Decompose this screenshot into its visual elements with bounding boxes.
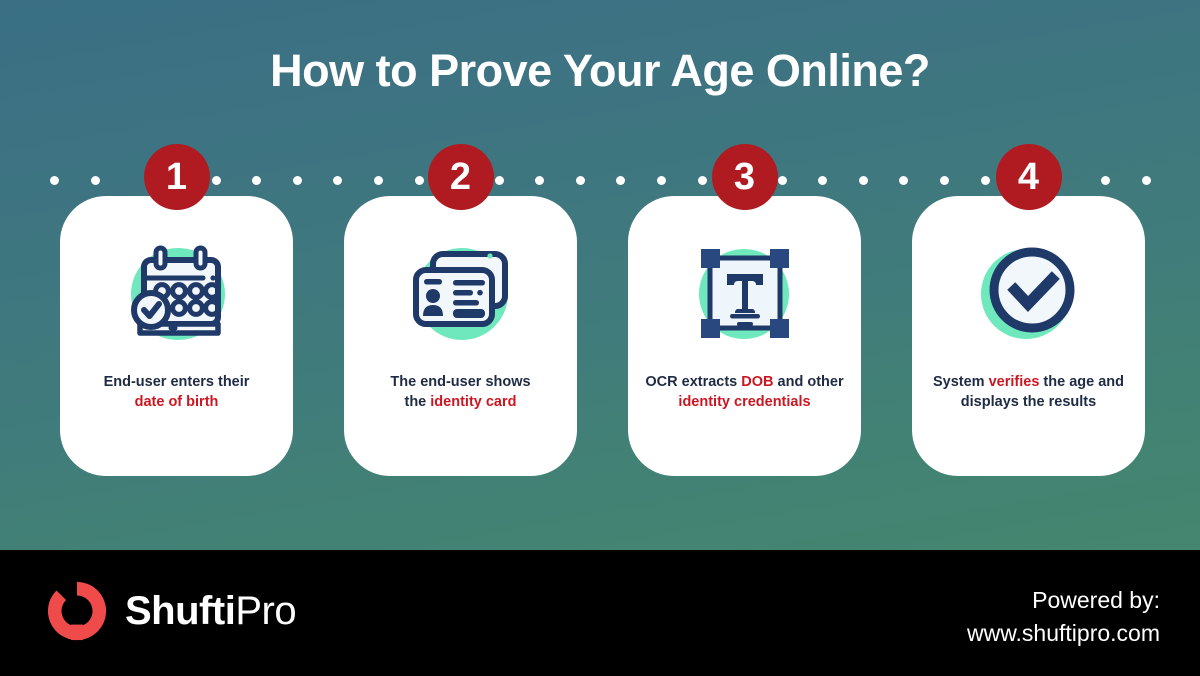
connector-dot bbox=[576, 176, 585, 185]
connector-dot bbox=[899, 176, 908, 185]
step-number-badge-4: 4 bbox=[996, 144, 1062, 210]
caption-highlight: DOB bbox=[741, 374, 773, 390]
step-caption-4: System verifies the age and displays the… bbox=[921, 372, 1136, 412]
caption-highlight: identity card bbox=[430, 394, 516, 410]
id-card-icon bbox=[401, 238, 521, 350]
caption-text: System bbox=[933, 374, 989, 390]
infographic-root: How to Prove Your Age Online? 1 bbox=[0, 0, 1200, 676]
connector-dot bbox=[1142, 176, 1151, 185]
footer-bar: ShuftiPro Powered by: www.shuftipro.com bbox=[0, 550, 1200, 676]
page-title: How to Prove Your Age Online? bbox=[0, 45, 1200, 97]
step-number-badge-2: 2 bbox=[428, 144, 494, 210]
connector-dot bbox=[293, 176, 302, 185]
steps-row: 1 bbox=[60, 196, 1145, 476]
connector-dot bbox=[91, 176, 100, 185]
connector-dot bbox=[657, 176, 666, 185]
powered-by-label: Powered by: bbox=[967, 584, 1160, 617]
connector-dot bbox=[495, 176, 504, 185]
step-caption-3: OCR extracts DOB and other identity cred… bbox=[637, 372, 852, 412]
connector-dot bbox=[981, 176, 990, 185]
caption-text-2: and other bbox=[774, 374, 844, 390]
step-number-badge-1: 1 bbox=[144, 144, 210, 210]
shuftipro-logo-mark bbox=[46, 580, 108, 642]
website-url[interactable]: www.shuftipro.com bbox=[967, 617, 1160, 650]
shuftipro-logo-text: ShuftiPro bbox=[125, 591, 296, 631]
powered-by-block: Powered by: www.shuftipro.com bbox=[967, 584, 1160, 649]
shuftipro-logo[interactable]: ShuftiPro bbox=[46, 580, 296, 642]
step-card-2[interactable]: 2 bbox=[344, 196, 577, 476]
gradient-background: How to Prove Your Age Online? 1 bbox=[0, 0, 1200, 550]
step-caption-2: The end-user shows the identity card bbox=[353, 372, 568, 412]
logo-name-light: Pro bbox=[235, 589, 296, 633]
step-card-3[interactable]: 3 OCR extra bbox=[628, 196, 861, 476]
connector-dot bbox=[333, 176, 342, 185]
caption-text: OCR extracts bbox=[645, 374, 741, 390]
connector-dot bbox=[212, 176, 221, 185]
connector-dot bbox=[252, 176, 261, 185]
caption-highlight-2: identity credentials bbox=[678, 394, 810, 410]
connector-dot bbox=[698, 176, 707, 185]
connector-dot bbox=[1101, 176, 1110, 185]
step-card-4[interactable]: 4 System verifies the age and displays t… bbox=[912, 196, 1145, 476]
check-circle-icon bbox=[969, 238, 1089, 350]
caption-highlight: verifies bbox=[989, 374, 1040, 390]
caption-text: The end-user shows bbox=[390, 374, 530, 390]
calendar-check-icon bbox=[117, 238, 237, 350]
connector-dot bbox=[616, 176, 625, 185]
connector-dot bbox=[50, 176, 59, 185]
step-number-badge-3: 3 bbox=[712, 144, 778, 210]
connector-dot bbox=[415, 176, 424, 185]
step-caption-1: End-user enters their date of birth bbox=[69, 372, 284, 412]
step-card-1[interactable]: 1 bbox=[60, 196, 293, 476]
ocr-text-icon bbox=[685, 238, 805, 350]
caption-highlight: date of birth bbox=[135, 394, 219, 410]
connector-dot bbox=[778, 176, 787, 185]
logo-name-bold: Shufti bbox=[125, 589, 235, 633]
caption-text: End-user enters their bbox=[104, 374, 250, 390]
connector-dot bbox=[374, 176, 383, 185]
caption-lead: the bbox=[405, 394, 431, 410]
connector-dot bbox=[859, 176, 868, 185]
connector-dot bbox=[818, 176, 827, 185]
connector-dot bbox=[535, 176, 544, 185]
connector-dot bbox=[940, 176, 949, 185]
